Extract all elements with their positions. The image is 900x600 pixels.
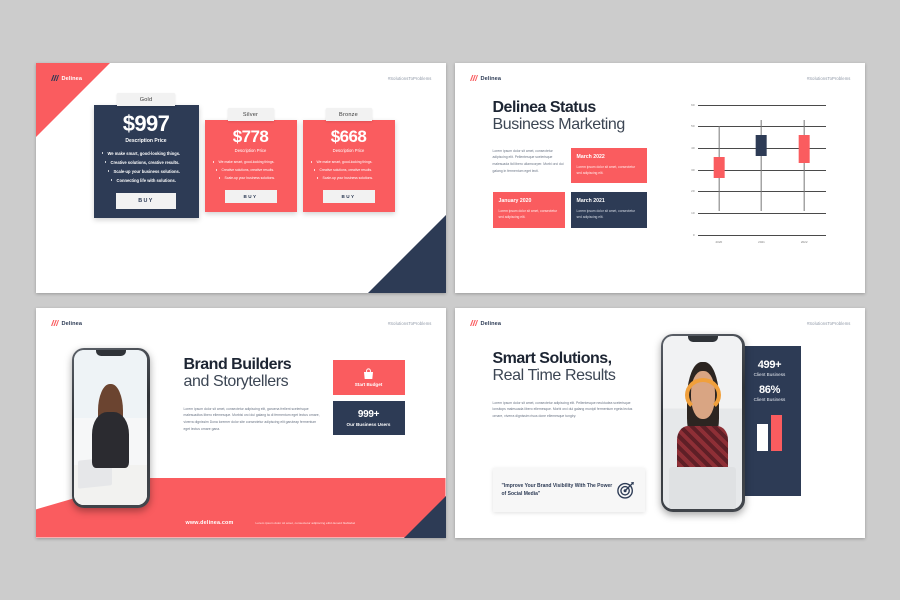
bar-white xyxy=(757,424,768,451)
quote-card[interactable]: "Improve Your Brand Visibility With The … xyxy=(493,468,645,512)
y-axis-tick-label: 30 xyxy=(691,168,694,172)
candle-body xyxy=(756,135,767,157)
brand-name: Delinea xyxy=(481,76,502,82)
buy-button[interactable]: BUY xyxy=(323,190,375,203)
candle-wick xyxy=(761,120,762,211)
buy-button[interactable]: BUY xyxy=(225,190,277,203)
stat-label: Client Business xyxy=(754,397,786,403)
page-title: Delinea Status xyxy=(493,99,663,116)
pricing-card-silver[interactable]: Silver $778 Description Price We make sm… xyxy=(205,108,297,212)
candle-body xyxy=(799,135,810,163)
phone-mockup xyxy=(72,348,150,508)
plan-tier-label: Silver xyxy=(228,108,274,121)
badge-label: Start Budget xyxy=(355,382,383,387)
phone-notch xyxy=(688,336,718,342)
delinea-slash-icon xyxy=(50,320,59,327)
milestone-title: March 2021 xyxy=(577,198,641,204)
body-paragraph: Lorem ipsum dolor sit amet, consectetur … xyxy=(184,406,322,433)
plan-price: $997 xyxy=(123,113,170,135)
chart-candle[interactable]: 2022 xyxy=(783,105,826,235)
y-axis-tick-label: 20 xyxy=(691,189,694,193)
start-budget-badge[interactable]: Start Budget xyxy=(333,360,405,395)
brand-hashtag: #SolutionsToProblems xyxy=(388,76,432,81)
milestone-card-january-2020[interactable]: January 2020 Lorem ipsum dolor sit amet,… xyxy=(493,192,565,228)
list-item: Scale-up your business solutions. xyxy=(212,176,290,180)
list-item: Creative solutions, creative results. xyxy=(101,160,192,165)
website-link[interactable]: www.delinea.com xyxy=(186,520,234,526)
chart-candle[interactable]: 2021 xyxy=(740,105,783,235)
chart-gridline: 0 xyxy=(698,235,826,236)
slide-header: Delinea #SolutionsToProblems xyxy=(36,72,446,86)
milestone-title: March 2022 xyxy=(577,154,641,160)
page-subtitle: Real Time Results xyxy=(493,367,653,385)
stats-panel: 499+ Client Business 86% Client Business xyxy=(739,346,801,496)
footer-text: Lorem ipsum dolor sit amet, consectetur … xyxy=(256,521,356,525)
photo-detail xyxy=(98,384,123,440)
delinea-slash-icon xyxy=(469,75,478,82)
slide-header: Delinea #SolutionsToProblems xyxy=(455,72,865,86)
shopping-bag-icon xyxy=(363,368,374,380)
mini-bar-chart xyxy=(757,415,782,451)
list-item: Scale-up your business solutions. xyxy=(101,169,192,174)
title-block: Smart Solutions, Real Time Results xyxy=(493,350,653,385)
plan-feature-list: We make smart, good-looking things. Crea… xyxy=(101,151,192,187)
brand-hashtag: #SolutionsToProblems xyxy=(807,76,851,81)
pricing-card-gold[interactable]: Gold $997 Description Price We make smar… xyxy=(94,93,199,218)
list-item: We make smart, good-looking things. xyxy=(101,151,192,156)
status-card-grid: Lorem ipsum dolor sit amet, consectetur … xyxy=(493,148,663,228)
plan-feature-list: We make smart, good-looking things. Crea… xyxy=(212,160,290,184)
milestone-card-march-2021[interactable]: March 2021 Lorem ipsum dolor sit amet, c… xyxy=(571,192,647,228)
y-axis-tick-label: 0 xyxy=(693,233,695,237)
slide-brand-builders[interactable]: Delinea #SolutionsToProblems Brand Build… xyxy=(36,308,446,538)
milestone-text: Lorem ipsum dolor sit amet, consectetur … xyxy=(577,164,641,177)
navy-corner-triangle xyxy=(368,215,446,293)
plan-price: $668 xyxy=(331,128,366,145)
stat-number: 86% xyxy=(759,384,780,396)
badge-label: Our Business Users xyxy=(347,422,391,427)
business-users-badge[interactable]: 999+ Our Business Users xyxy=(333,401,405,435)
y-axis-tick-label: 10 xyxy=(691,211,694,215)
page-subtitle: and Storytellers xyxy=(184,373,329,391)
list-item: We make smart, good-looking things. xyxy=(212,160,290,164)
buy-button[interactable]: BUY xyxy=(116,193,176,209)
photo-woman-laptop xyxy=(74,350,147,505)
slide-header: Delinea #SolutionsToProblems xyxy=(455,317,865,331)
status-text-block: Delinea Status Business Marketing Lorem … xyxy=(493,99,663,228)
target-icon xyxy=(616,477,636,503)
milestone-text: Lorem ipsum dolor sit amet, consectetur … xyxy=(577,208,641,221)
page-subtitle: Business Marketing xyxy=(493,116,663,134)
photo-detail xyxy=(78,457,112,488)
chart-candle[interactable]: 2020 xyxy=(698,105,741,235)
brand-logo[interactable]: Delinea xyxy=(50,75,83,82)
brand-name: Delinea xyxy=(62,321,83,327)
brand-name: Delinea xyxy=(481,321,502,327)
pricing-card-group: Gold $997 Description Price We make smar… xyxy=(94,93,395,218)
slide-smart-solutions[interactable]: Delinea #SolutionsToProblems Smart Solut… xyxy=(455,308,865,538)
phone-screen xyxy=(663,336,742,509)
plan-price: $778 xyxy=(233,128,268,145)
candle-body xyxy=(713,157,724,179)
milestone-title: January 2020 xyxy=(499,198,559,204)
photo-detail xyxy=(669,467,735,509)
badge-group: Start Budget 999+ Our Business Users xyxy=(333,360,405,435)
badge-number: 999+ xyxy=(358,409,379,420)
list-item: Scale-up your business solutions. xyxy=(310,176,388,180)
stat-label: Client Business xyxy=(754,372,786,378)
list-item: Creative solutions, creative results. xyxy=(310,168,388,172)
brand-hashtag: #SolutionsToProblems xyxy=(388,321,432,326)
list-item: Creative solutions, creative results. xyxy=(212,168,290,172)
photo-woman-headphones xyxy=(663,336,742,509)
x-axis-tick-label: 2022 xyxy=(801,240,808,244)
brand-hashtag: #SolutionsToProblems xyxy=(807,321,851,326)
quote-text: "Improve Your Brand Visibility With The … xyxy=(502,482,616,498)
plan-description: Description Price xyxy=(333,148,365,153)
delinea-slash-icon xyxy=(50,75,59,82)
candlestick-chart[interactable]: 0102030405060202020212022 xyxy=(680,101,830,251)
page-title: Brand Builders xyxy=(184,356,329,373)
slide-header: Delinea #SolutionsToProblems xyxy=(36,317,446,331)
plan-tier-label: Bronze xyxy=(326,108,372,121)
phone-notch xyxy=(96,350,126,356)
list-item: We make smart, good-looking things. xyxy=(310,160,388,164)
y-axis-tick-label: 50 xyxy=(691,124,694,128)
brand-logo[interactable]: Delinea xyxy=(469,320,502,327)
body-paragraph: Lorem ipsum dolor sit amet, consectetur … xyxy=(493,148,565,184)
pricing-card-bronze[interactable]: Bronze $668 Description Price We make sm… xyxy=(303,108,395,212)
brand-logo[interactable]: Delinea xyxy=(469,75,502,82)
plan-feature-list: We make smart, good-looking things. Crea… xyxy=(310,160,388,184)
milestone-card-march-2022[interactable]: March 2022 Lorem ipsum dolor sit amet, c… xyxy=(571,148,647,184)
phone-screen xyxy=(74,350,147,505)
body-paragraph: Lorem ipsum dolor sit amet, consectetur … xyxy=(493,400,643,420)
slide-deck: Delinea #SolutionsToProblems Gold $997 D… xyxy=(0,0,900,600)
x-axis-tick-label: 2020 xyxy=(715,240,722,244)
phone-mockup xyxy=(661,334,745,512)
brand-logo[interactable]: Delinea xyxy=(50,320,83,327)
title-block: Brand Builders and Storytellers xyxy=(184,356,329,391)
y-axis-tick-label: 40 xyxy=(691,146,694,150)
y-axis-tick-label: 60 xyxy=(691,103,694,107)
page-title: Smart Solutions, xyxy=(493,350,653,367)
milestone-text: Lorem ipsum dolor sit amet, consectetur … xyxy=(499,208,559,221)
candle-wick xyxy=(804,120,805,211)
slide-pricing[interactable]: Delinea #SolutionsToProblems Gold $997 D… xyxy=(36,63,446,293)
plan-description: Description Price xyxy=(125,138,166,144)
list-item: Connecting life with solutions. xyxy=(101,178,192,183)
plan-description: Description Price xyxy=(235,148,267,153)
slide-status-chart[interactable]: Delinea #SolutionsToProblems Delinea Sta… xyxy=(455,63,865,293)
chart-plot-area: 0102030405060202020212022 xyxy=(698,105,826,235)
delinea-slash-icon xyxy=(469,320,478,327)
slide-footer: www.delinea.com Lorem ipsum dolor sit am… xyxy=(36,508,446,538)
x-axis-tick-label: 2021 xyxy=(758,240,765,244)
plan-tier-label: Gold xyxy=(117,93,175,106)
stat-number: 499+ xyxy=(758,359,782,371)
brand-name: Delinea xyxy=(62,76,83,82)
bar-red xyxy=(771,415,782,451)
